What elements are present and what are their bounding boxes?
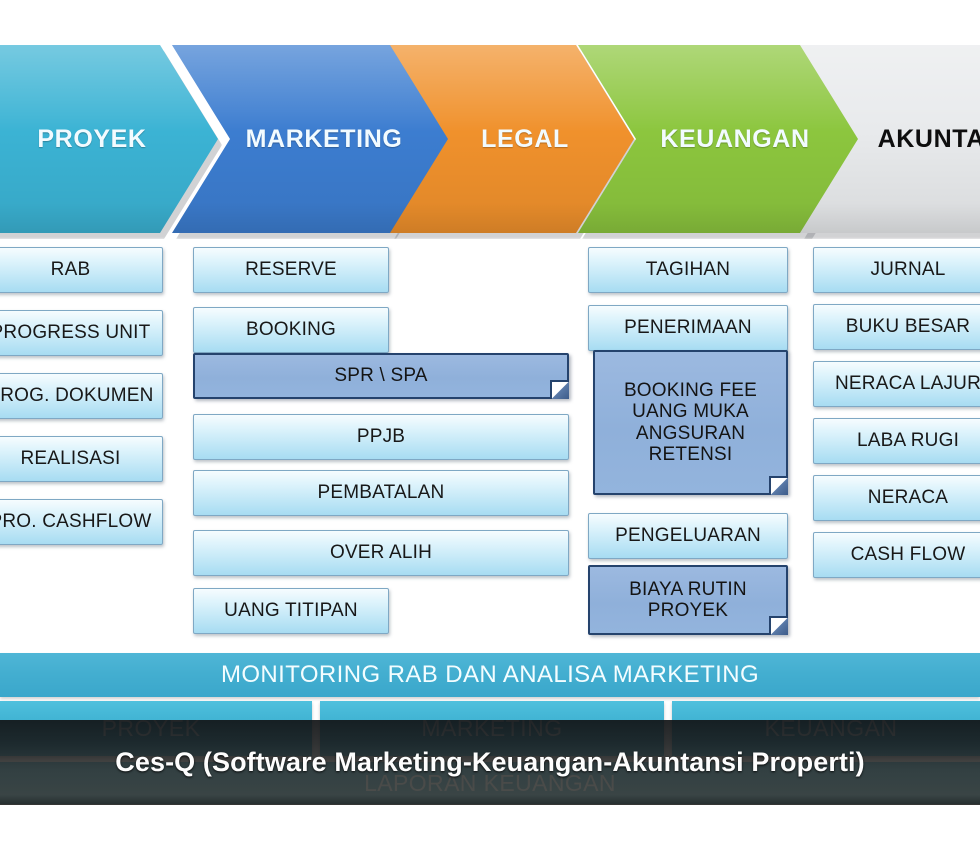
diagram-canvas: PROYEKMARKETINGLEGALKEUANGANAKUNTANSI RA… xyxy=(0,0,980,862)
module-box[interactable]: PRO. CASHFLOW xyxy=(0,499,163,545)
module-box[interactable]: PROG. DOKUMEN xyxy=(0,373,163,419)
chevron-label: AKUNTANSI xyxy=(800,125,980,154)
module-box-label: REALISASI xyxy=(20,448,120,469)
module-box-label: OVER ALIH xyxy=(330,542,432,563)
module-box-label: PPJB xyxy=(357,426,405,447)
module-box-label: PROG. DOKUMEN xyxy=(0,385,154,406)
folded-corner-icon xyxy=(550,380,569,399)
watermark-caption: Ces-Q (Software Marketing-Keuangan-Akunt… xyxy=(0,742,980,782)
module-box[interactable]: RESERVE xyxy=(193,247,389,293)
module-box-label: BUKU BESAR xyxy=(846,316,970,337)
monitoring-bar: MONITORING RAB DAN ANALISA MARKETING xyxy=(0,653,980,697)
module-box-label: LABA RUGI xyxy=(857,430,959,451)
process-chevron-banner: PROYEKMARKETINGLEGALKEUANGANAKUNTANSI xyxy=(0,45,980,233)
module-box[interactable]: TAGIHAN xyxy=(588,247,788,293)
folded-corner-icon xyxy=(769,616,788,635)
module-box-label: BOOKING FEE UANG MUKA ANGSURAN RETENSI xyxy=(624,380,757,465)
module-box-label: PEMBATALAN xyxy=(318,482,445,503)
module-box-label: BIAYA RUTIN PROYEK xyxy=(629,579,747,622)
module-box[interactable]: SPR \ SPA xyxy=(193,353,569,399)
module-box[interactable]: PPJB xyxy=(193,414,569,460)
module-box-label: NERACA LAJUR xyxy=(835,373,980,394)
module-box-label: PENGELUARAN xyxy=(615,525,761,546)
module-box-label: CASH FLOW xyxy=(851,544,966,565)
module-box-label: NERACA xyxy=(868,487,948,508)
module-box[interactable]: NERACA LAJUR xyxy=(813,361,980,407)
module-box[interactable]: PENGELUARAN xyxy=(588,513,788,559)
module-box[interactable]: PROGRESS UNIT xyxy=(0,310,163,356)
module-box-label: RESERVE xyxy=(245,259,337,280)
module-box[interactable]: RAB xyxy=(0,247,163,293)
module-box[interactable]: OVER ALIH xyxy=(193,530,569,576)
module-box[interactable]: REALISASI xyxy=(0,436,163,482)
module-box[interactable]: NERACA xyxy=(813,475,980,521)
module-box[interactable]: PENERIMAAN xyxy=(588,305,788,351)
module-box-label: BOOKING xyxy=(246,319,336,340)
module-box-label: JURNAL xyxy=(870,259,945,280)
bottom-white-margin xyxy=(0,805,980,862)
module-box[interactable]: BUKU BESAR xyxy=(813,304,980,350)
module-box-label: PENERIMAAN xyxy=(624,317,752,338)
module-box[interactable]: BOOKING FEE UANG MUKA ANGSURAN RETENSI xyxy=(593,350,788,495)
folded-corner-icon xyxy=(769,476,788,495)
chevron-akuntansi[interactable]: AKUNTANSI xyxy=(800,45,980,233)
module-box[interactable]: PEMBATALAN xyxy=(193,470,569,516)
module-box[interactable]: LABA RUGI xyxy=(813,418,980,464)
module-box-label: PRO. CASHFLOW xyxy=(0,511,152,532)
module-box[interactable]: UANG TITIPAN xyxy=(193,588,389,634)
module-box[interactable]: BIAYA RUTIN PROYEK xyxy=(588,565,788,635)
module-box-label: UANG TITIPAN xyxy=(224,600,358,621)
module-box-label: PROGRESS UNIT xyxy=(0,322,150,343)
module-box-label: RAB xyxy=(51,259,91,280)
module-box-label: SPR \ SPA xyxy=(334,365,427,386)
module-box-label: TAGIHAN xyxy=(646,259,730,280)
module-box[interactable]: CASH FLOW xyxy=(813,532,980,578)
monitoring-bar-label: MONITORING RAB DAN ANALISA MARKETING xyxy=(221,661,759,689)
module-box[interactable]: BOOKING xyxy=(193,307,389,353)
module-box[interactable]: JURNAL xyxy=(813,247,980,293)
